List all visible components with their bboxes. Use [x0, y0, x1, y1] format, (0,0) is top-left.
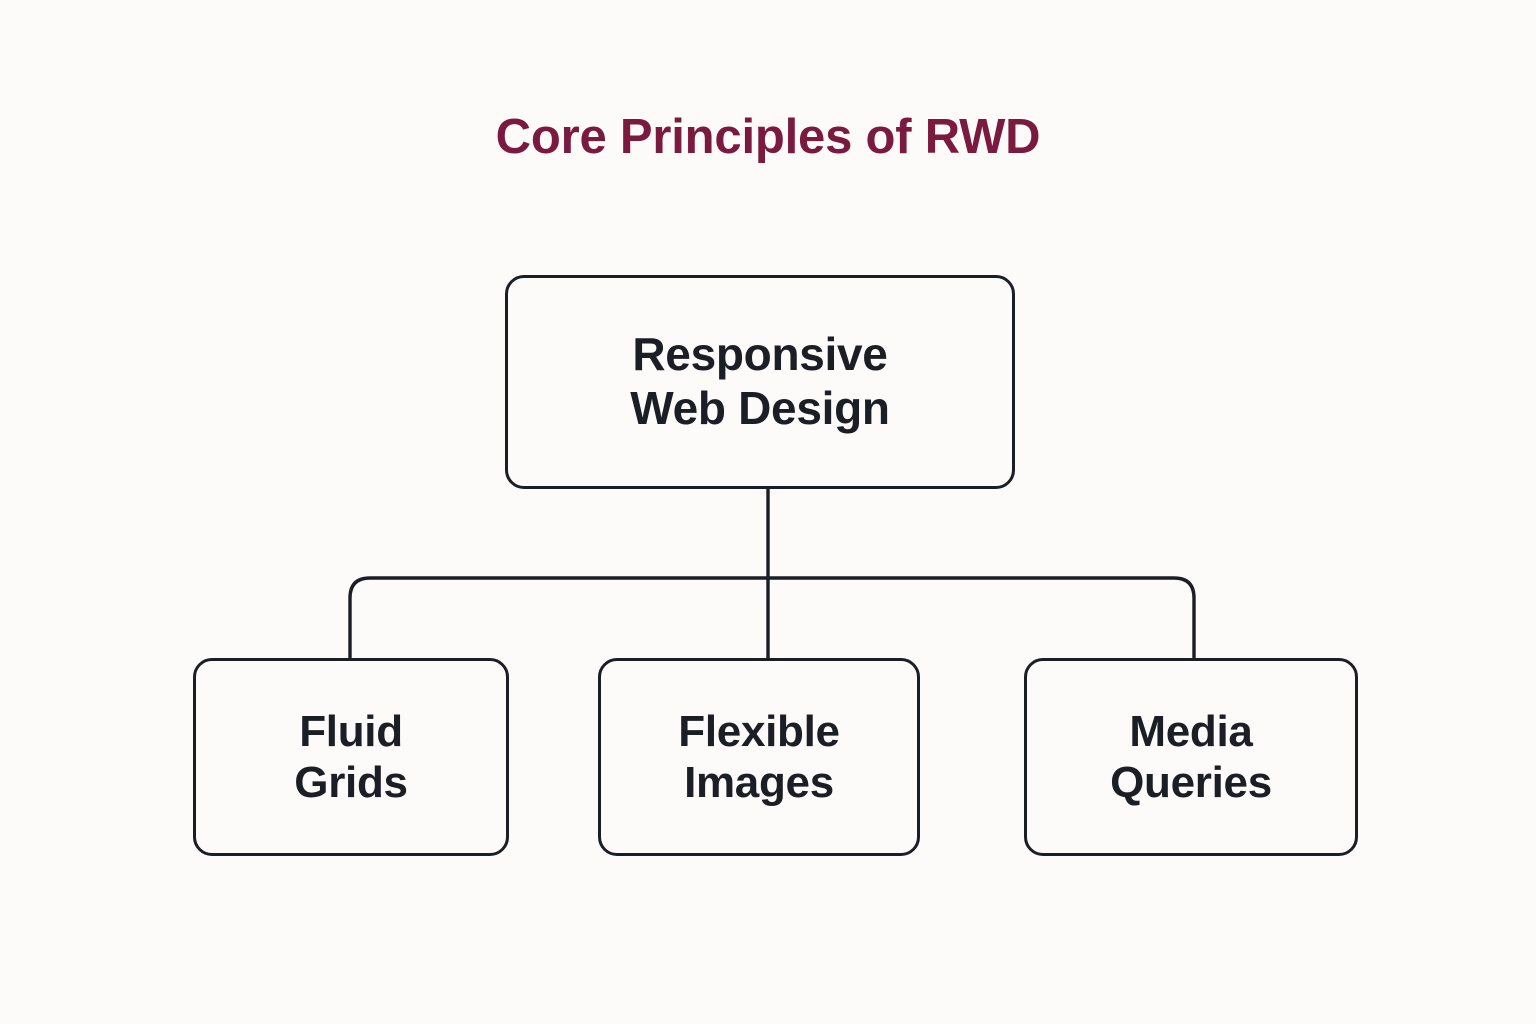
node-fluid-grids[interactable]: Fluid Grids [193, 658, 509, 856]
node-responsive-web-design[interactable]: Responsive Web Design [505, 275, 1015, 489]
page-title: Core Principles of RWD [0, 113, 1536, 162]
node-media-queries[interactable]: Media Queries [1024, 658, 1358, 856]
node-flexible-images[interactable]: Flexible Images [598, 658, 920, 856]
diagram-canvas: Core Principles of RWD Responsive Web De… [0, 0, 1536, 1024]
connector-bus [350, 578, 1194, 658]
